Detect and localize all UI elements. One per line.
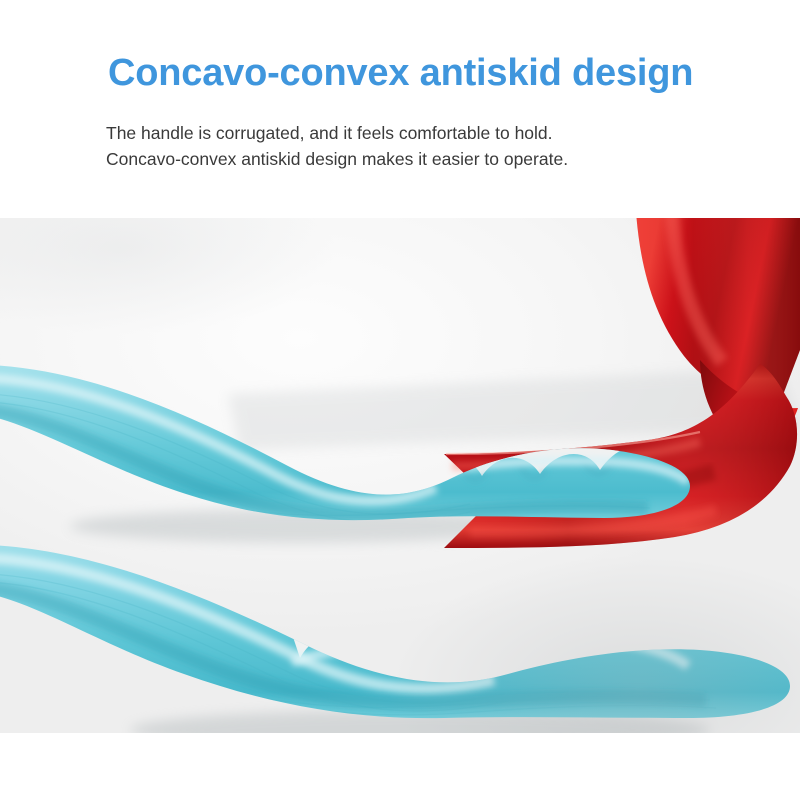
description-text: The handle is corrugated, and it feels c…: [106, 120, 568, 172]
product-feature-banner: Concavo-convex antiskid design The handl…: [0, 0, 800, 800]
product-photo: [0, 218, 800, 733]
grip-valley-shadows-lower: [330, 636, 580, 658]
header-text-block: Concavo-convex antiskid design The handl…: [0, 0, 800, 218]
tong-arm-lower: [0, 545, 790, 718]
page-title: Concavo-convex antiskid design: [108, 52, 693, 95]
product-photo-illustration: [0, 218, 800, 733]
footer-spacer: [0, 733, 800, 800]
description-line-1: The handle is corrugated, and it feels c…: [106, 120, 568, 146]
description-line-2: Concavo-convex antiskid design makes it …: [106, 146, 568, 172]
grip-bump-notches-lower: [280, 578, 700, 658]
